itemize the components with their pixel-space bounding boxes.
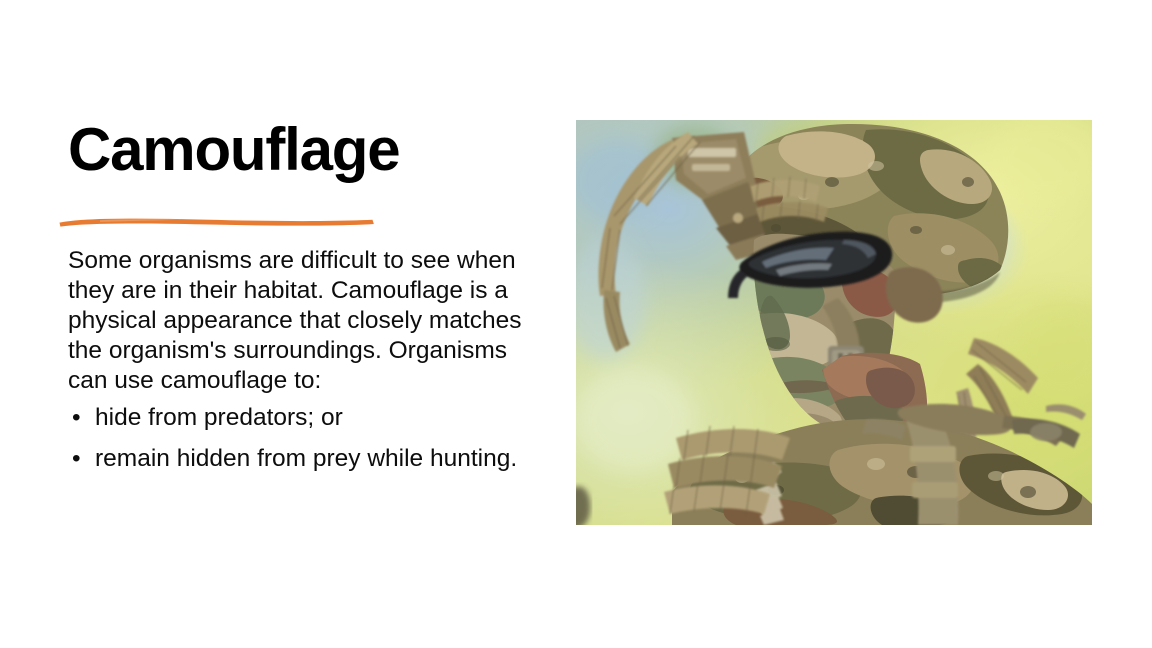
body-paragraph: Some organisms are difficult to see when… — [68, 246, 546, 396]
list-item: • hide from predators; or — [68, 403, 548, 433]
bullet-marker-icon: • — [72, 403, 81, 433]
bullet-marker-icon: • — [72, 444, 81, 474]
title-underline-accent — [58, 213, 376, 229]
list-item-label: hide from predators; or — [95, 404, 343, 431]
camouflaged-soldier-photo: Soldier in multicam camouflage uniform w… — [576, 120, 1092, 525]
bullet-list: • hide from predators; or • remain hidde… — [68, 403, 548, 485]
slide-canvas: Camouflage Some organisms are difficult … — [0, 0, 1152, 648]
page-title: Camouflage — [68, 118, 548, 183]
text-content-column: Camouflage Some organisms are difficult … — [68, 118, 548, 183]
list-item-label: remain hidden from prey while hunting. — [95, 445, 517, 472]
list-item: • remain hidden from prey while hunting. — [68, 444, 548, 474]
